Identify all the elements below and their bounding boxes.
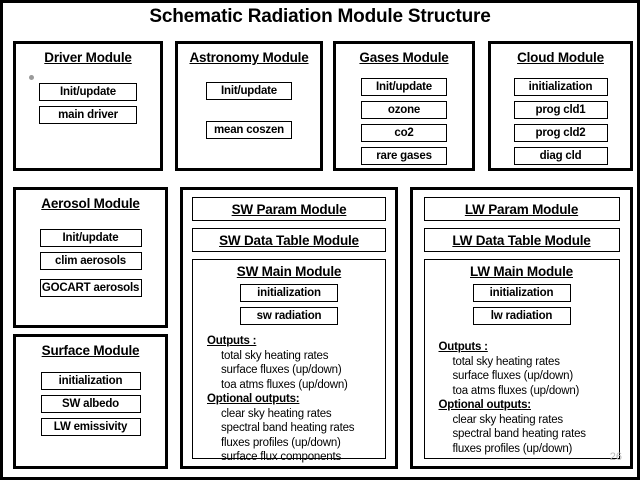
sw-optional-1: spectral band heating rates bbox=[207, 421, 385, 436]
chip-sw-main-1[interactable]: sw radiation bbox=[240, 307, 338, 325]
group-lw: LW Param Module LW Data Table Module LW … bbox=[410, 187, 633, 469]
chip-aerosol-0[interactable]: Init/update bbox=[40, 229, 142, 247]
lw-outputs-heading: Outputs : bbox=[439, 340, 619, 355]
module-gases: Gases Module Init/update ozone co2 rare … bbox=[333, 41, 475, 171]
sw-param-module[interactable]: SW Param Module bbox=[192, 197, 386, 221]
lw-main-module-title: LW Main Module bbox=[425, 264, 619, 279]
lw-optional-heading: Optional outputs: bbox=[439, 398, 619, 413]
chip-cloud-2[interactable]: prog cld2 bbox=[514, 124, 608, 142]
lw-output-1: surface fluxes (up/down) bbox=[439, 369, 619, 384]
module-driver: Driver Module Init/update main driver bbox=[13, 41, 163, 171]
chip-cloud-3[interactable]: diag cld bbox=[514, 147, 608, 165]
lw-outputs-block: Outputs : total sky heating rates surfac… bbox=[425, 330, 619, 456]
lw-optional-0: clear sky heating rates bbox=[439, 413, 619, 428]
lw-main-module: LW Main Module initialization lw radiati… bbox=[424, 259, 620, 459]
sw-data-table-module[interactable]: SW Data Table Module bbox=[192, 228, 386, 252]
page-title: Schematic Radiation Module Structure bbox=[3, 6, 637, 28]
chip-surface-2[interactable]: LW emissivity bbox=[41, 418, 141, 436]
chip-astronomy-0[interactable]: Init/update bbox=[206, 82, 292, 100]
chip-astronomy-1[interactable]: mean coszen bbox=[206, 121, 292, 139]
chip-aerosol-1[interactable]: clim aerosols bbox=[40, 252, 142, 270]
chip-lw-main-1[interactable]: lw radiation bbox=[473, 307, 571, 325]
lw-optional-1: spectral band heating rates bbox=[439, 427, 619, 442]
chip-gases-1[interactable]: ozone bbox=[361, 101, 447, 119]
lw-output-0: total sky heating rates bbox=[439, 355, 619, 370]
module-astronomy-title: Astronomy Module bbox=[178, 50, 320, 65]
lw-optional-2: fluxes profiles (up/down) bbox=[439, 442, 619, 457]
module-aerosol: Aerosol Module Init/update clim aerosols… bbox=[13, 187, 168, 328]
chip-driver-1[interactable]: main driver bbox=[39, 106, 137, 124]
module-cloud-title: Cloud Module bbox=[491, 50, 630, 65]
chip-lw-main-0[interactable]: initialization bbox=[473, 284, 571, 302]
chip-cloud-1[interactable]: prog cld1 bbox=[514, 101, 608, 119]
module-cloud: Cloud Module initialization prog cld1 pr… bbox=[488, 41, 633, 171]
sw-optional-2: fluxes profiles (up/down) bbox=[207, 436, 385, 451]
sw-output-0: total sky heating rates bbox=[207, 349, 385, 364]
slide-page: Schematic Radiation Module Structure Dri… bbox=[0, 0, 640, 480]
group-sw: SW Param Module SW Data Table Module SW … bbox=[180, 187, 398, 469]
chip-sw-main-0[interactable]: initialization bbox=[240, 284, 338, 302]
chip-driver-0[interactable]: Init/update bbox=[39, 83, 137, 101]
module-aerosol-title: Aerosol Module bbox=[16, 196, 165, 211]
sw-optional-0: clear sky heating rates bbox=[207, 407, 385, 422]
lw-data-table-module[interactable]: LW Data Table Module bbox=[424, 228, 620, 252]
chip-cloud-0[interactable]: initialization bbox=[514, 78, 608, 96]
lw-param-module[interactable]: LW Param Module bbox=[424, 197, 620, 221]
module-surface: Surface Module initialization SW albedo … bbox=[13, 334, 168, 469]
lw-output-2: toa atms fluxes (up/down) bbox=[439, 384, 619, 399]
chip-surface-1[interactable]: SW albedo bbox=[41, 395, 141, 413]
chip-aerosol-2[interactable]: GOCART aerosols bbox=[40, 279, 142, 297]
chip-surface-0[interactable]: initialization bbox=[41, 372, 141, 390]
chip-gases-2[interactable]: co2 bbox=[361, 124, 447, 142]
chip-gases-3[interactable]: rare gases bbox=[361, 147, 447, 165]
module-astronomy: Astronomy Module Init/update mean coszen bbox=[175, 41, 323, 171]
bullet-dot bbox=[29, 75, 34, 80]
sw-main-module: SW Main Module initialization sw radiati… bbox=[192, 259, 386, 459]
module-surface-title: Surface Module bbox=[16, 343, 165, 358]
sw-main-module-title: SW Main Module bbox=[193, 264, 385, 279]
sw-output-1: surface fluxes (up/down) bbox=[207, 363, 385, 378]
module-driver-title: Driver Module bbox=[16, 50, 160, 65]
page-number: 26 bbox=[610, 451, 622, 463]
sw-outputs-block: Outputs : total sky heating rates surfac… bbox=[193, 330, 385, 465]
chip-gases-0[interactable]: Init/update bbox=[361, 78, 447, 96]
sw-outputs-heading: Outputs : bbox=[207, 334, 385, 349]
sw-optional-3: surface flux components bbox=[207, 450, 385, 465]
module-gases-title: Gases Module bbox=[336, 50, 472, 65]
sw-optional-heading: Optional outputs: bbox=[207, 392, 385, 407]
sw-output-2: toa atms fluxes (up/down) bbox=[207, 378, 385, 393]
